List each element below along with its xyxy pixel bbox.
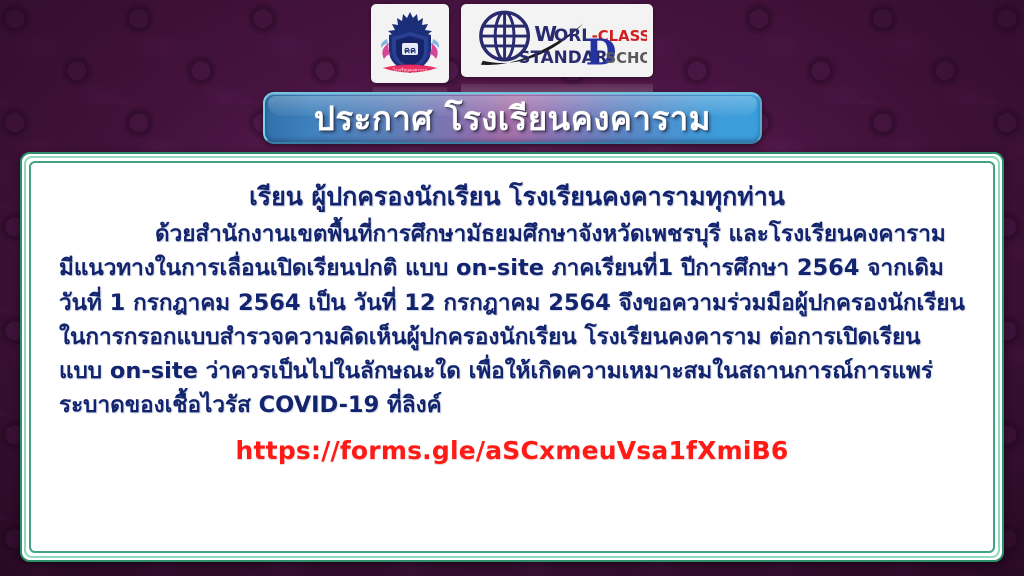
body-line-1: ด้วยสำนักงานเขตพื้นที่การศึกษามัธยมศึกษา… xyxy=(59,217,965,251)
announcement-body: ด้วยสำนักงานเขตพื้นที่การศึกษามัธยมศึกษา… xyxy=(59,217,965,422)
card-frame-middle: เรียน ผู้ปกครองนักเรียน โรงเรียนคงคารามท… xyxy=(24,156,1000,558)
wcss-logo-wrapper: W ORL -CLASS STANDAR D SCHOOL STANDAR xyxy=(461,4,653,77)
body-line-4: ในการกรอกแบบสำรวจความคิดเห็นผู้ปกครองนัก… xyxy=(59,320,965,354)
body-line-5: แบบ on-site ว่าควรเป็นไปในลักษณะใด เพื่อ… xyxy=(59,354,965,388)
survey-link-row: https://forms.gle/aSCxmeuVsa1fXmiB6 xyxy=(59,436,965,465)
announcement-poster: คค โรงเรียนคงคาราม xyxy=(0,0,1024,576)
logo-row: คค โรงเรียนคงคาราม xyxy=(0,4,1024,90)
announcement-card: เรียน ผู้ปกครองนักเรียน โรงเรียนคงคารามท… xyxy=(20,152,1004,562)
survey-form-link[interactable]: https://forms.gle/aSCxmeuVsa1fXmiB6 xyxy=(236,436,789,465)
body-line-2: มีแนวทางในการเลื่อนเปิดเรียนปกติ แบบ on-… xyxy=(59,251,965,285)
page-title: ประกาศ โรงเรียนคงคาราม xyxy=(314,102,711,135)
world-class-standard-school-icon: W ORL -CLASS STANDAR D SCHOOL xyxy=(461,4,653,77)
body-line-6: ระบาดของเชื้อไวรัส COVID-19 ที่ลิงค์ xyxy=(59,388,965,422)
school-crest-icon: คค โรงเรียนคงคาราม xyxy=(371,4,449,83)
svg-text:โรงเรียนคงคาราม: โรงเรียนคงคาราม xyxy=(393,66,428,73)
salutation-text: เรียน ผู้ปกครองนักเรียน โรงเรียนคงคารามท… xyxy=(59,181,965,212)
svg-text:SCHOOL: SCHOOL xyxy=(605,49,647,66)
card-content: เรียน ผู้ปกครองนักเรียน โรงเรียนคงคารามท… xyxy=(29,161,995,553)
announcement-title-banner: ประกาศ โรงเรียนคงคาราม xyxy=(263,92,762,144)
svg-text:คค: คค xyxy=(404,46,416,56)
school-crest-logo-wrapper: คค โรงเรียนคงคาราม xyxy=(371,4,449,83)
body-line-3: วันที่ 1 กรกฎาคม 2564 เป็น วันที่ 12 กรก… xyxy=(59,286,965,320)
